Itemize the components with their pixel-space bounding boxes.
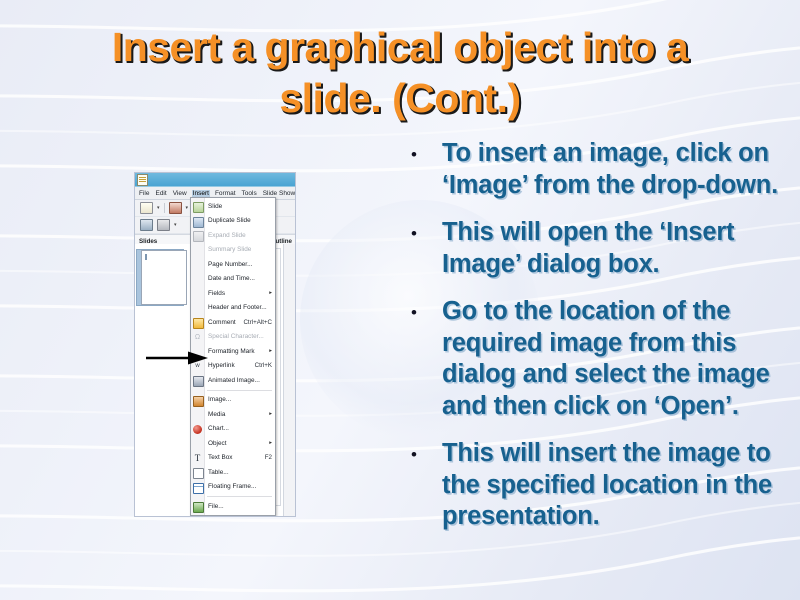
menu-item-label: Image... bbox=[208, 396, 272, 403]
submenu-arrow-icon: ▸ bbox=[265, 348, 272, 354]
menu-item-label: Formatting Mark bbox=[208, 348, 265, 355]
menu-item-shortcut: Ctrl+K bbox=[251, 362, 272, 369]
menu-item-table[interactable]: Table... bbox=[191, 465, 275, 480]
menu-item-label: Animated Image... bbox=[208, 377, 272, 384]
menu-item-special-character: ΩSpecial Character... bbox=[191, 330, 275, 345]
slides-panel[interactable] bbox=[135, 244, 194, 516]
duplicate-slide-icon bbox=[193, 217, 204, 228]
menu-item-chart[interactable]: Chart... bbox=[191, 422, 275, 437]
submenu-arrow-icon: ▸ bbox=[265, 440, 272, 446]
chart-icon bbox=[193, 425, 202, 434]
presentation-slide: Insert a graphical object into a slide. … bbox=[0, 0, 800, 600]
menu-item-duplicate-slide[interactable]: Duplicate Slide bbox=[191, 214, 275, 229]
expand-slide-icon bbox=[193, 231, 204, 242]
bullet-text: To insert an image, click on ‘Image’ fro… bbox=[442, 138, 794, 201]
menu-item-image[interactable]: Image... bbox=[191, 393, 275, 408]
menu-separator bbox=[207, 496, 272, 497]
menu-item-label: Expand Slide bbox=[208, 232, 272, 239]
menu-item-slide[interactable]: Slide bbox=[191, 199, 275, 214]
menu-item-label: Comment bbox=[208, 319, 239, 326]
new-document-icon[interactable] bbox=[140, 202, 153, 214]
slide-thumbnail[interactable] bbox=[141, 250, 187, 305]
menu-item-comment[interactable]: CommentCtrl+Alt+C bbox=[191, 315, 275, 330]
document-icon bbox=[137, 174, 148, 186]
menu-item-label: Duplicate Slide bbox=[208, 217, 272, 224]
menubar-item-edit[interactable]: Edit bbox=[154, 190, 167, 197]
toolbar-separator bbox=[164, 203, 165, 213]
menu-item-summary-slide: Summary Slide bbox=[191, 243, 275, 258]
menu-item-date-and-time[interactable]: Date and Time... bbox=[191, 272, 275, 287]
menubar-item-tools[interactable]: Tools bbox=[241, 190, 258, 197]
special-character-icon: Ω bbox=[193, 333, 202, 342]
bullet-item: • To insert an image, click on ‘Image’ f… bbox=[404, 138, 794, 201]
menu-item-label: Special Character... bbox=[208, 333, 272, 340]
menu-item-fields[interactable]: Fields▸ bbox=[191, 286, 275, 301]
menu-item-label: Header and Footer... bbox=[208, 304, 272, 311]
menu-item-label: Text Box bbox=[208, 454, 261, 461]
menubar-item-view[interactable]: View bbox=[172, 190, 188, 197]
menu-item-animated-image[interactable]: Animated Image... bbox=[191, 373, 275, 388]
menu-item-label: Date and Time... bbox=[208, 275, 272, 282]
menu-item-label: Page Number... bbox=[208, 261, 272, 268]
menu-item-header-and-footer[interactable]: Header and Footer... bbox=[191, 301, 275, 316]
text-box-icon: T bbox=[193, 454, 202, 463]
chevron-down-icon[interactable]: ▾ bbox=[174, 222, 177, 228]
chevron-down-icon[interactable]: ▾ bbox=[157, 205, 160, 211]
bullet-text: This will open the ‘Insert Image’ dialog… bbox=[442, 217, 794, 280]
menu-item-label: Fields bbox=[208, 290, 265, 297]
menu-item-page-number[interactable]: Page Number... bbox=[191, 257, 275, 272]
bullet-marker-icon: • bbox=[404, 438, 442, 471]
menu-item-label: Chart... bbox=[208, 425, 272, 432]
menu-item-label: Table... bbox=[208, 469, 272, 476]
menu-item-label: Object bbox=[208, 440, 265, 447]
file-icon bbox=[193, 502, 204, 513]
menu-item-media[interactable]: Media▸ bbox=[191, 407, 275, 422]
menubar-item-format[interactable]: Format bbox=[214, 190, 237, 197]
menu-item-expand-slide: Expand Slide bbox=[191, 228, 275, 243]
menubar-item-file[interactable]: File bbox=[138, 190, 150, 197]
open-folder-icon[interactable] bbox=[169, 202, 182, 214]
menu-item-shortcut: Ctrl+Alt+C bbox=[239, 319, 272, 326]
table-icon bbox=[193, 468, 204, 479]
app-title-bar bbox=[135, 173, 295, 187]
menu-item-label: Summary Slide bbox=[208, 246, 272, 253]
embedded-application-screenshot: FileEditViewInsertFormatToolsSlide ShowW… bbox=[135, 173, 295, 516]
bullet-item: • This will insert the image to the spec… bbox=[404, 438, 794, 533]
menu-item-label: Floating Frame... bbox=[208, 483, 272, 490]
bullet-marker-icon: • bbox=[404, 217, 442, 250]
comment-icon bbox=[193, 318, 204, 329]
menu-item-label: Hyperlink bbox=[208, 362, 251, 369]
menu-item-floating-frame[interactable]: Floating Frame... bbox=[191, 480, 275, 495]
menu-separator bbox=[207, 390, 272, 391]
bullet-text: This will insert the image to the specif… bbox=[442, 438, 794, 533]
paint-format-icon[interactable] bbox=[140, 219, 153, 231]
menu-item-label: Slide bbox=[208, 203, 272, 210]
image-icon bbox=[193, 396, 204, 407]
menubar-item-insert[interactable]: Insert bbox=[192, 190, 210, 197]
menu-item-shortcut: F2 bbox=[261, 454, 272, 461]
align-icon[interactable] bbox=[157, 219, 170, 231]
menu-item-label: Media bbox=[208, 411, 265, 418]
menu-item-text-box[interactable]: TText BoxF2 bbox=[191, 451, 275, 466]
slide-icon bbox=[193, 202, 204, 213]
menu-item-file[interactable]: File... bbox=[191, 499, 275, 514]
animated-image-icon bbox=[193, 376, 204, 387]
menubar-item-slide-show[interactable]: Slide Show bbox=[262, 190, 295, 197]
bullet-marker-icon: • bbox=[404, 138, 442, 171]
menu-item-object[interactable]: Object▸ bbox=[191, 436, 275, 451]
bullet-marker-icon: • bbox=[404, 296, 442, 329]
annotation-arrow-icon bbox=[146, 351, 208, 365]
bullet-item: • Go to the location of the required ima… bbox=[404, 296, 794, 422]
chevron-down-icon[interactable]: ▾ bbox=[186, 205, 189, 211]
bullet-text: Go to the location of the required image… bbox=[442, 296, 794, 422]
submenu-arrow-icon: ▸ bbox=[265, 290, 272, 296]
floating-frame-icon bbox=[193, 483, 204, 494]
right-sidebar-rail[interactable] bbox=[283, 244, 295, 516]
slide-body-bullet-list: • To insert an image, click on ‘Image’ f… bbox=[404, 138, 794, 549]
menu-item-label: File... bbox=[208, 503, 272, 510]
bullet-item: • This will open the ‘Insert Image’ dial… bbox=[404, 217, 794, 280]
submenu-arrow-icon: ▸ bbox=[265, 411, 272, 417]
slide-title: Insert a graphical object into a slide. … bbox=[40, 22, 760, 124]
